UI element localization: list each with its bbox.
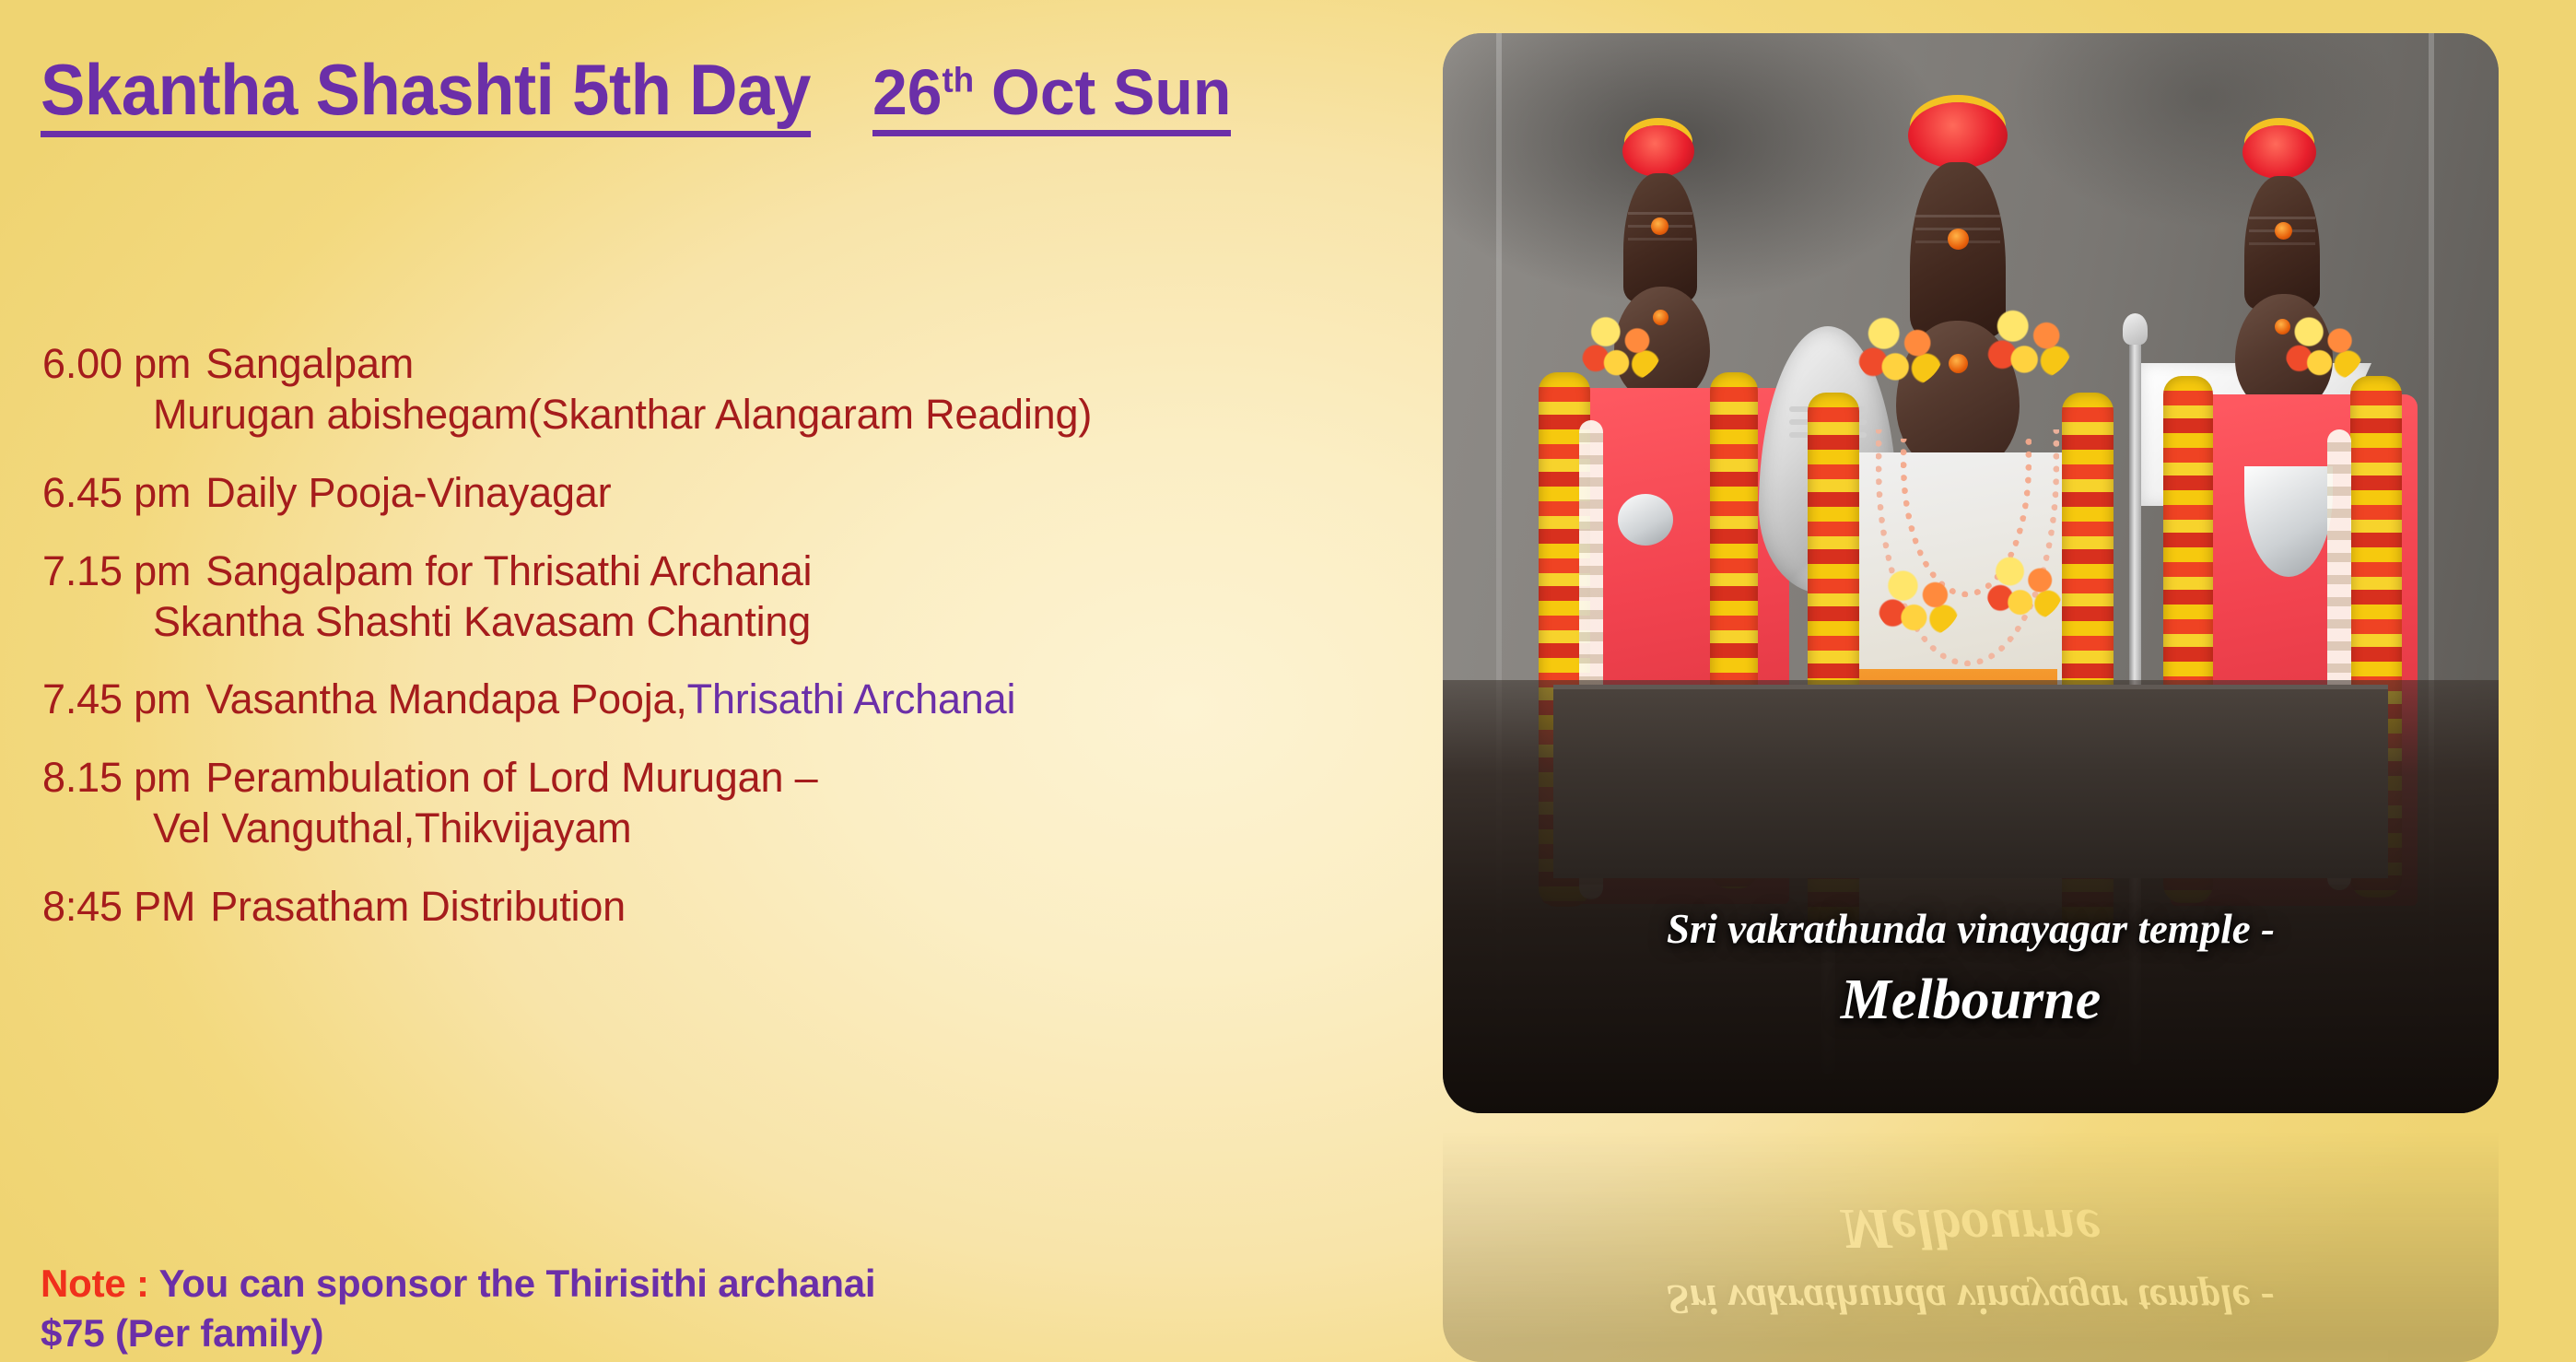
schedule-event: Daily Pooja-Vinayagar <box>205 469 611 516</box>
schedule-row-continued: Vel Vanguthal,Thikvijayam <box>42 804 1424 854</box>
deity-crown-left <box>1623 173 1697 302</box>
forehead-mark-icon <box>1651 217 1669 235</box>
forehead-mark-icon <box>1653 310 1669 325</box>
forehead-mark-icon <box>1948 229 1969 250</box>
temple-photo-frame: Sri vakrathunda vinayagar temple - Melbo… <box>1443 33 2499 1113</box>
sponsorship-note: Note : You can sponsor the Thirisithi ar… <box>41 1259 1376 1358</box>
flower-crest-icon <box>2242 125 2316 179</box>
note-line-2: $75 (Per family) <box>41 1309 1376 1358</box>
schedule-event: Perambulation of Lord Murugan – <box>205 754 817 801</box>
forehead-mark-icon <box>2275 222 2292 240</box>
schedule-event: Sangalpam for Thrisathi Archanai <box>205 547 812 594</box>
ornament-plate <box>1618 494 1673 546</box>
schedule-row: 8.15 pmPerambulation of Lord Murugan – <box>42 753 1424 804</box>
caption-line-1: Sri vakrathunda vinayagar temple - <box>1443 903 2499 955</box>
schedule-row: 6.45 pmDaily Pooja-Vinayagar <box>42 468 1424 519</box>
schedule-row: 7.45 pmVasantha Mandapa Pooja,Thrisathi … <box>42 675 1424 725</box>
date-suffix: th <box>943 62 975 100</box>
schedule-item: 8:45 PMPrasatham Distribution <box>42 882 1424 933</box>
shrine-plinth <box>1553 685 2388 878</box>
left-content-column: Skantha Shashti 5th Day 26th Oct Sun 6.0… <box>0 0 1437 1362</box>
deity-crown-right <box>2244 176 2320 310</box>
schedule-item: 7.45 pmVasantha Mandapa Pooja,Thrisathi … <box>42 675 1424 725</box>
schedule-event: Vel Vanguthal,Thikvijayam <box>153 804 631 851</box>
flower-crest-icon <box>1622 125 1694 177</box>
flower-cluster <box>1985 302 2073 382</box>
schedule-event: Vasantha Mandapa Pooja, <box>205 675 686 722</box>
schedule-event: Sangalpam <box>205 340 414 387</box>
title-block: Skantha Shashti 5th Day 26th Oct Sun <box>41 31 1243 137</box>
schedule-time: 8:45 PM <box>42 882 195 933</box>
photo-reflection: Sri vakrathunda vinayagar temple - Melbo… <box>1443 1115 2499 1362</box>
schedule-row: 8:45 PMPrasatham Distribution <box>42 882 1424 933</box>
flower-cluster <box>1985 549 2064 623</box>
date-rest: Oct Sun <box>974 56 1231 128</box>
schedule-event: Prasatham Distribution <box>210 883 626 930</box>
caption-line-2: Melbourne <box>1443 965 2499 1037</box>
flower-cluster <box>1579 310 1662 383</box>
schedule-event: Skantha Shashti Kavasam Chanting <box>153 598 811 645</box>
schedule-event: Murugan abishegam(Skanthar Alangaram Rea… <box>153 391 1092 438</box>
flower-cluster <box>1856 310 1944 389</box>
schedule-row-continued: Skantha Shashti Kavasam Chanting <box>42 597 1424 648</box>
reflection-caption-line-2: Melbourne <box>1443 1192 2499 1264</box>
flower-cluster <box>2283 310 2364 383</box>
schedule-time: 7.15 pm <box>42 546 191 597</box>
schedule-item: 6.45 pmDaily Pooja-Vinayagar <box>42 468 1424 519</box>
schedule-row-continued: Murugan abishegam(Skanthar Alangaram Rea… <box>42 390 1424 440</box>
schedule-time: 6.45 pm <box>42 468 191 519</box>
schedule-event-highlight: Thrisathi Archanai <box>687 675 1016 722</box>
note-line-1: Note : You can sponsor the Thirisithi ar… <box>41 1259 1376 1309</box>
forehead-mark-icon <box>1949 354 1968 373</box>
flower-cluster <box>1876 563 1961 639</box>
schedule-row: 6.00 pmSangalpam <box>42 339 1424 390</box>
deity-crown-center <box>1910 162 2006 337</box>
schedule-item: 6.00 pmSangalpam Murugan abishegam(Skant… <box>42 339 1424 440</box>
schedule-time: 7.45 pm <box>42 675 191 725</box>
schedule-time: 8.15 pm <box>42 753 191 804</box>
reflection-caption: Sri vakrathunda vinayagar temple - Melbo… <box>1443 1192 2499 1325</box>
schedule-item: 8.15 pmPerambulation of Lord Murugan – V… <box>42 753 1424 854</box>
temple-photo: Sri vakrathunda vinayagar temple - Melbo… <box>1443 33 2499 1113</box>
schedule-time: 6.00 pm <box>42 339 191 390</box>
reflection-caption-line-1: Sri vakrathunda vinayagar temple - <box>1443 1274 2499 1325</box>
schedule-row: 7.15 pmSangalpam for Thrisathi Archanai <box>42 546 1424 597</box>
page-title: Skantha Shashti 5th Day <box>41 53 811 137</box>
note-label: Note : <box>41 1262 159 1305</box>
photo-caption: Sri vakrathunda vinayagar temple - Melbo… <box>1443 903 2499 1036</box>
reflection-inner: Sri vakrathunda vinayagar temple - Melbo… <box>1443 1115 2499 1362</box>
schedule-item: 7.15 pmSangalpam for Thrisathi Archanai … <box>42 546 1424 648</box>
date-day: 26 <box>872 56 943 128</box>
event-date: 26th Oct Sun <box>872 60 1231 136</box>
schedule-list: 6.00 pmSangalpam Murugan abishegam(Skant… <box>42 339 1424 933</box>
note-text: You can sponsor the Thirisithi archanai <box>159 1262 876 1305</box>
poster-canvas: Skantha Shashti 5th Day 26th Oct Sun 6.0… <box>0 0 2576 1362</box>
flower-crest-icon <box>1908 102 2008 169</box>
